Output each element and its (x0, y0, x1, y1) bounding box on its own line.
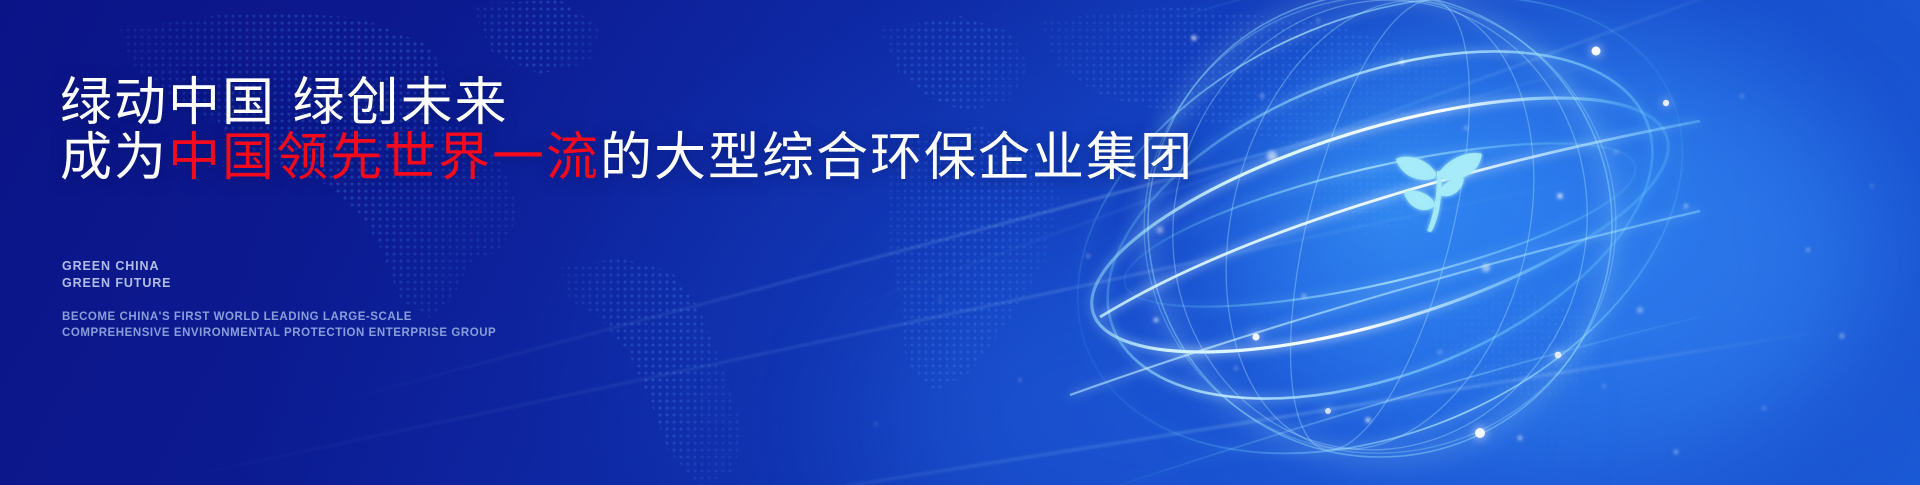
globe-wireframe-icon (1060, 0, 1700, 485)
headline-highlight: 中国领先世界一流 (168, 129, 600, 187)
tagline-line-2: GREEN FUTURE (62, 275, 171, 292)
headline-prefix: 成为 (60, 129, 168, 187)
tagline-english: GREEN CHINA GREEN FUTURE (62, 258, 171, 292)
tagline-line-1: GREEN CHINA (62, 258, 171, 275)
description-line-1: BECOME CHINA'S FIRST WORLD LEADING LARGE… (62, 310, 496, 326)
headline-line-2: 成为中国领先世界一流的大型综合环保企业集团 (60, 131, 1194, 186)
headline-suffix: 的大型综合环保企业集团 (600, 129, 1194, 187)
description-line-2: COMPREHENSIVE ENVIRONMENTAL PROTECTION E… (62, 326, 496, 342)
copy-block: 绿动中国 绿创未来 成为中国领先世界一流的大型综合环保企业集团 GREEN CH… (60, 0, 1060, 485)
ambient-glow (1240, 30, 1880, 485)
sprout-icon (1392, 137, 1484, 233)
hero-banner: 绿动中国 绿创未来 成为中国领先世界一流的大型综合环保企业集团 GREEN CH… (0, 0, 1920, 485)
description-english: BECOME CHINA'S FIRST WORLD LEADING LARGE… (62, 310, 496, 341)
headline-line-1: 绿动中国 绿创未来 (60, 76, 508, 131)
